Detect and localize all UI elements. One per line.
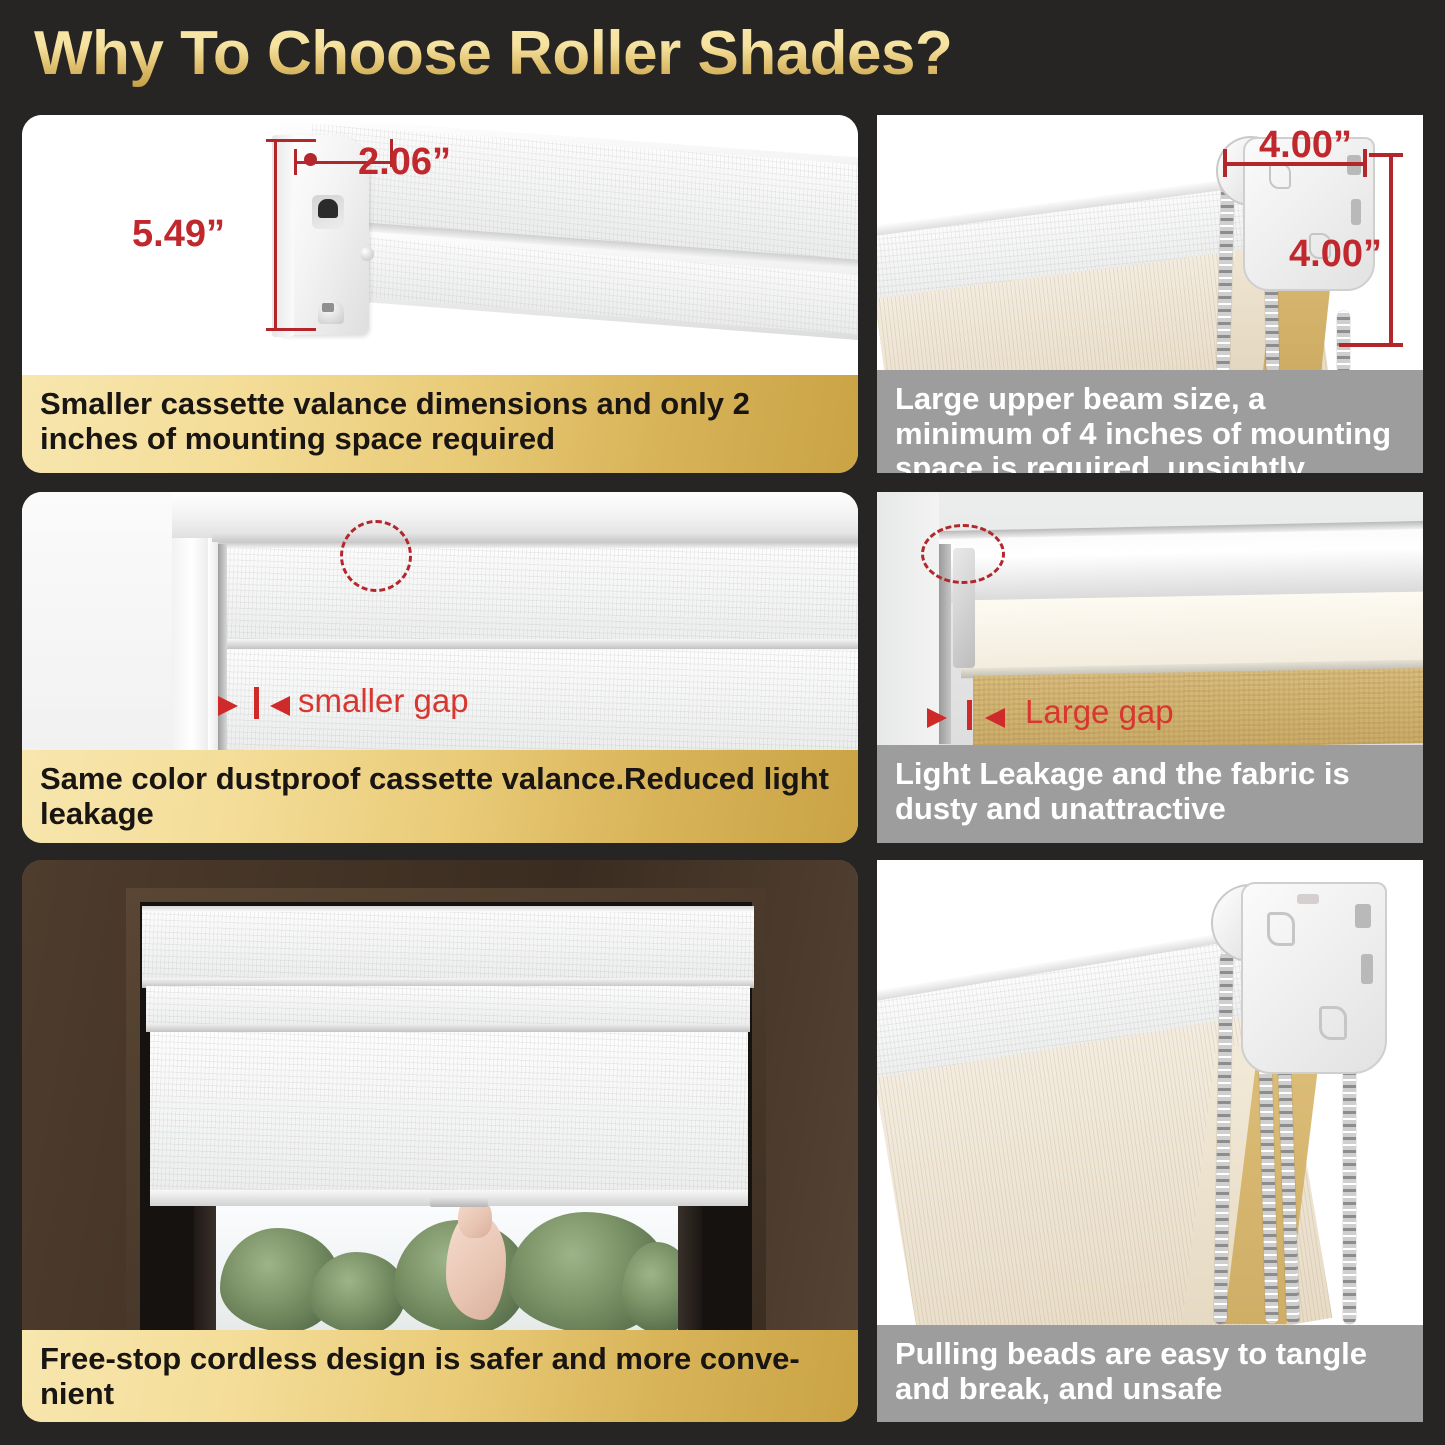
panel-large-beam-caption: Large upper beam size, a minimum of 4 in…: [877, 370, 1423, 473]
highlight-circle: [340, 520, 412, 592]
beam-width-label: 4.00”: [1259, 124, 1352, 167]
panel-dustproof-photo: smaller gap: [22, 492, 858, 750]
panel-large-beam-photo: 4.00” 4.00”: [877, 115, 1423, 370]
panel-pulling-beads-photo: [877, 860, 1423, 1325]
panel-cordless-design: Free-stop cordless design is safer and m…: [22, 860, 858, 1422]
page-title: Why To Choose Roller Shades?: [34, 18, 1234, 90]
beam-height-label: 4.00”: [1289, 233, 1382, 276]
panel-cordless-caption: Free-stop cordless design is safer and m…: [22, 1330, 858, 1422]
panel-cassette-caption: Smaller cassette valance dimensions and …: [22, 375, 858, 473]
panel-pulling-beads: Pulling beads are easy to tangle and bre…: [877, 860, 1423, 1422]
bead-chain: [1337, 311, 1350, 370]
smaller-gap-label: smaller gap: [298, 682, 469, 720]
panel-light-leakage: Large gap Light Leakage and the fabric i…: [877, 492, 1423, 843]
bead-chain: [1343, 1066, 1356, 1324]
width-dimension-label: 2.06”: [358, 141, 451, 184]
height-dimension-line: [274, 139, 277, 331]
panel-light-leakage-caption: Light Leakage and the fabric is dusty an…: [877, 745, 1423, 843]
beam-height-dimension-line: [1389, 155, 1393, 345]
panel-pulling-beads-caption: Pulling beads are easy to tangle and bre…: [877, 1325, 1423, 1422]
panel-large-beam: 4.00” 4.00” Large upper beam size, a min…: [877, 115, 1423, 473]
panel-dustproof-caption: Same color dustproof cassette valance.Re…: [22, 750, 858, 843]
panel-cassette-dimensions: 5.49” 2.06” Smaller cassette valance dim…: [22, 115, 858, 473]
panel-cassette-photo: 5.49” 2.06”: [22, 115, 858, 375]
infographic-root: Why To Choose Roller Shades? 5.49: [0, 0, 1445, 1445]
panel-cordless-photo: [22, 860, 858, 1330]
panel-light-leakage-photo: Large gap: [877, 492, 1423, 745]
height-dimension-label: 5.49”: [132, 213, 225, 256]
panel-dustproof-valance: smaller gap Same color dustproof cassett…: [22, 492, 858, 843]
highlight-circle: [921, 524, 1005, 584]
large-gap-label: Large gap: [1025, 693, 1174, 731]
